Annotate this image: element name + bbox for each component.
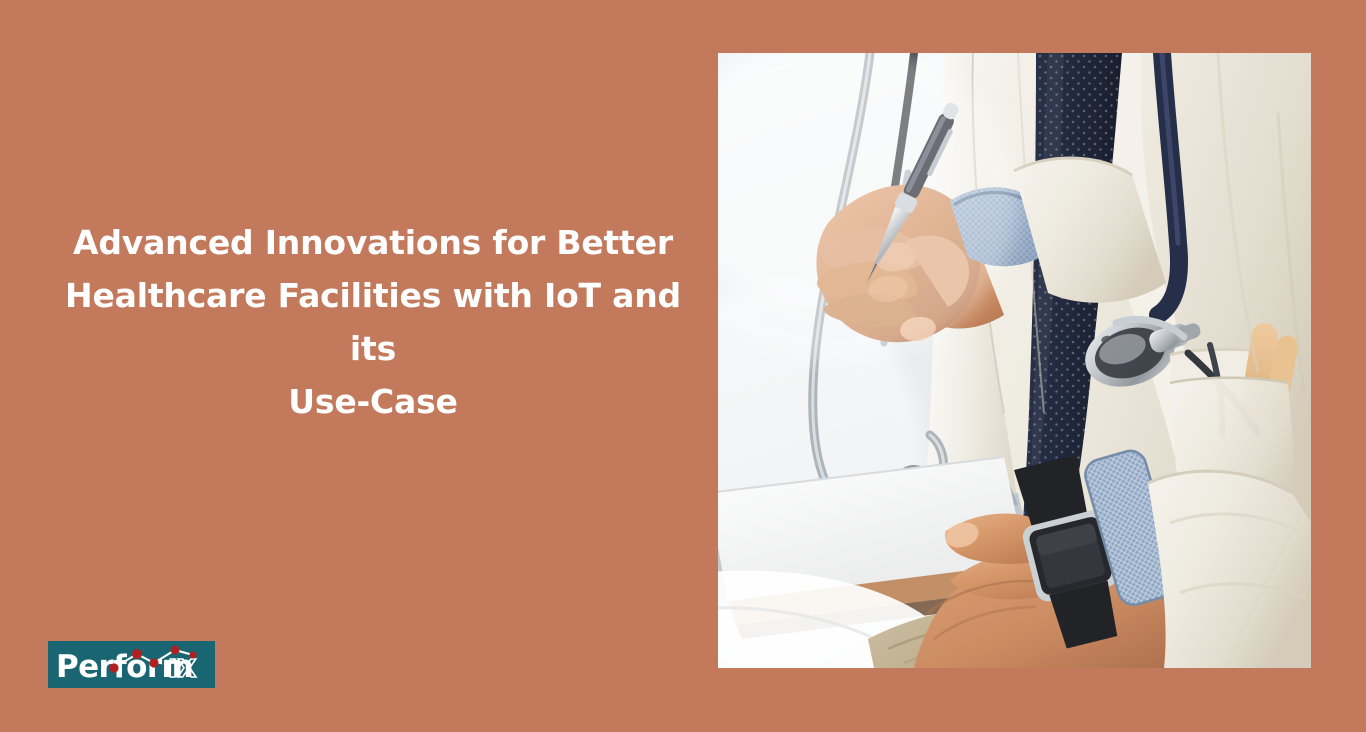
doctor-photo: [718, 53, 1311, 668]
headline-block: Advanced Innovations for Better Healthca…: [38, 216, 708, 428]
logo[interactable]: Perform IX: [48, 641, 215, 688]
page-title: Advanced Innovations for Better Healthca…: [38, 216, 708, 428]
performix-logo-icon: Perform IX: [48, 641, 215, 688]
doctor-photo-image: [718, 53, 1311, 668]
banner: Advanced Innovations for Better Healthca…: [0, 0, 1366, 732]
